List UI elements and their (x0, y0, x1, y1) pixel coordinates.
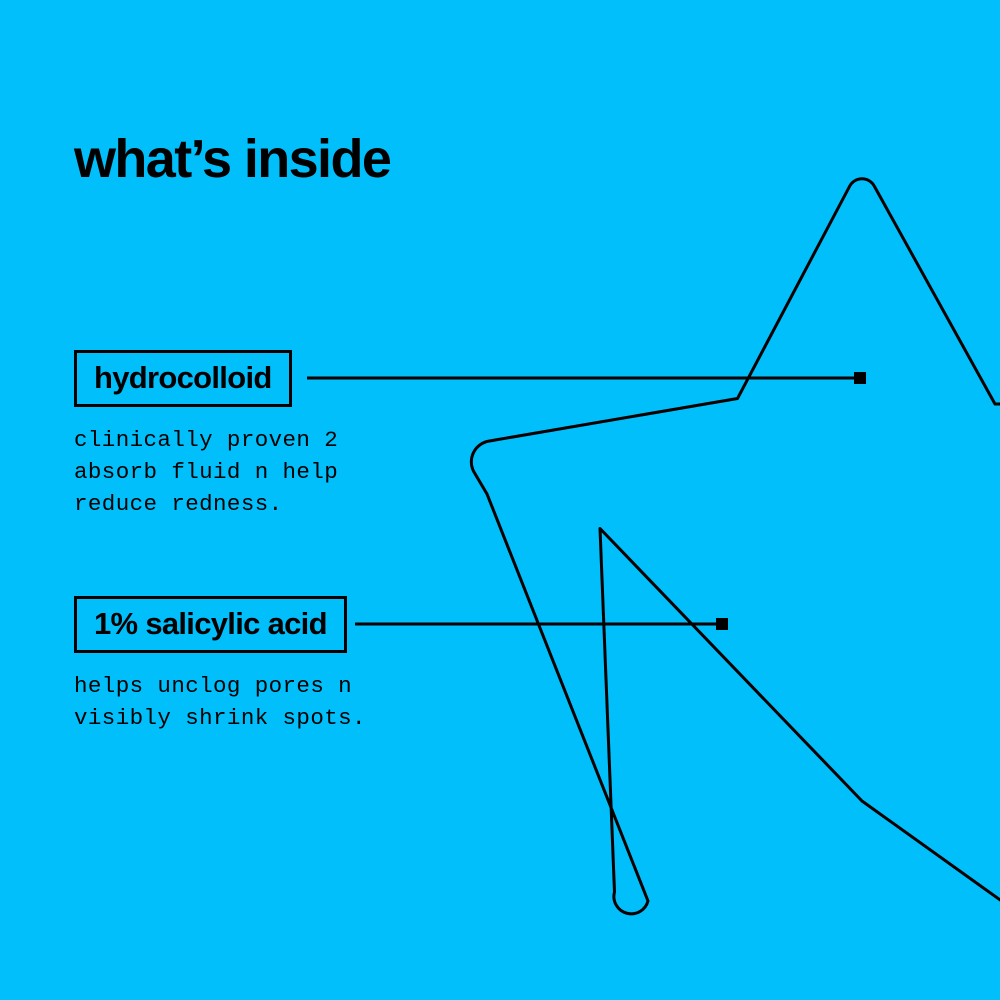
leader-endpoint-marker-1 (854, 372, 866, 384)
ingredient-description-hydrocolloid: clinically proven 2 absorb fluid n help … (74, 424, 338, 520)
star-outline (471, 179, 1000, 914)
ingredient-label-box-hydrocolloid[interactable]: hydrocolloid (74, 350, 292, 407)
ingredient-block-hydrocolloid: hydrocolloid clinically proven 2 absorb … (74, 350, 338, 520)
leader-endpoint-marker-2 (716, 618, 728, 630)
ingredient-description-salicylic-acid: helps unclog pores n visibly shrink spot… (74, 670, 366, 734)
ingredient-label-box-salicylic-acid[interactable]: 1% salicylic acid (74, 596, 347, 653)
page-title: what’s inside (74, 132, 390, 186)
poster-canvas: what’s inside hydrocolloid clinically pr… (0, 0, 1000, 1000)
leader-line-hydrocolloid (307, 372, 866, 384)
ingredient-block-salicylic-acid: 1% salicylic acid helps unclog pores n v… (74, 596, 366, 734)
ingredient-label-text: 1% salicylic acid (94, 606, 327, 641)
ingredient-label-text: hydrocolloid (94, 360, 272, 395)
star-outline-group (471, 179, 1000, 914)
